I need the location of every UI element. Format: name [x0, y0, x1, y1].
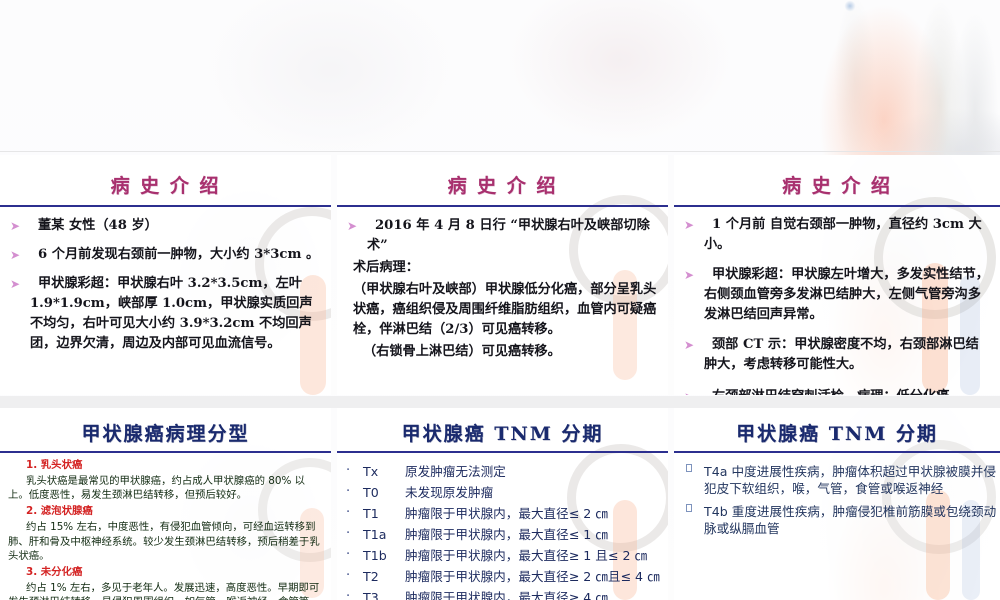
tnm-desc: 肿瘤限于甲状腺内，最大直径≥ 1 且≤ 2 ㎝ — [405, 548, 647, 563]
dot-bullet-icon: · — [346, 483, 350, 501]
panel-tnm-t1-t3[interactable]: 甲状腺癌 TNM 分期 · Tx 原发肿瘤无法测定 · T0 — [337, 408, 668, 600]
arrow-bullet-icon: ➤ — [684, 266, 694, 284]
tnm-code: T3 — [363, 589, 401, 600]
tnm-desc: 肿瘤限于甲状腺内，最大直径≤ 1 ㎝ — [405, 527, 608, 542]
panel-title: 病 史 介 绍 — [674, 155, 1000, 198]
pathology-text: 乳头状癌是最常见的甲状腺癌，约占成人甲状腺癌的 80% 以上。低度恶性，易发生颈… — [8, 474, 325, 504]
pathology-text: 约占 1% 左右，多见于老年人。发展迅速，高度恶性。早期即可发生颈淋巴结转移，易… — [8, 581, 325, 600]
panel-row-top: 病 史 介 绍 ➤ 董某 女性（48 岁） ➤ 6 个月前发现右颈前一肿物，大小… — [0, 155, 1000, 395]
tnm-code: T2 — [363, 568, 401, 585]
panel-title: 病 史 介 绍 — [0, 155, 331, 198]
panel-history-3[interactable]: 病 史 介 绍 ➤ 1 个月前 自觉右颈部一肿物，直径约 3cm 大小。 ➤ 甲… — [674, 155, 1000, 395]
pathology-heading: 3. 未分化癌 — [8, 565, 325, 581]
tnm-desc: 肿瘤限于甲状腺内，最大直径≥ 2 ㎝且≤ 4 ㎝ — [405, 569, 660, 584]
panel-pathology-types[interactable]: 甲状腺癌病理分型 1. 乳头状癌 乳头状癌是最常见的甲状腺癌，约占成人甲状腺癌的… — [0, 408, 331, 600]
panel-title: 甲状腺癌病理分型 — [0, 408, 331, 446]
list-item-text: 2016 年 4 月 8 日行 “甲状腺右叶及峡部切除术” — [367, 218, 650, 253]
dot-bullet-icon: · — [346, 462, 350, 480]
pathology-text: 约占 15% 左右，中度恶性，有侵犯血管倾向，可经血运转移到肺、肝和骨及中枢神经… — [8, 520, 325, 564]
panel-title: 病 史 介 绍 — [337, 155, 668, 198]
list-item-text: 1 个月前 自觉右颈部一肿物，直径约 3cm 大小。 — [704, 217, 982, 252]
panels-grid: 病 史 介 绍 ➤ 董某 女性（48 岁） ➤ 6 个月前发现右颈前一肿物，大小… — [0, 0, 1000, 600]
dot-bullet-icon: · — [346, 525, 350, 543]
list-item-text: （右锁骨上淋巴结）可见癌转移。 — [363, 344, 561, 359]
tnm-list: T4a 中度进展性疾病，肿瘤体积超过甲状腺被膜并侵犯皮下软组织，喉，气管，食管或… — [674, 463, 1000, 538]
list-item: ➤ 颈部 CT 示：甲状腺密度不均，右颈部淋巴结肿大，考虑转移可能性大。 — [682, 335, 991, 375]
list-item-text: （甲状腺右叶及峡部）甲状腺低分化癌，部分呈乳头状癌，癌组织侵及周围纤维脂肪组织，… — [353, 282, 656, 337]
bullet-list: ➤ 董某 女性（48 岁） ➤ 6 个月前发现右颈前一肿物，大小约 3*3cm … — [8, 216, 322, 354]
list-item: · T0 未发现原发肿瘤 — [337, 484, 668, 501]
panel-title: 甲状腺癌 TNM 分期 — [337, 408, 668, 446]
list-item: T4a 中度进展性疾病，肿瘤体积超过甲状腺被膜并侵犯皮下软组织，喉，气管，食管或… — [674, 463, 1000, 498]
list-item: · T2 肿瘤限于甲状腺内，最大直径≥ 2 ㎝且≤ 4 ㎝ — [337, 568, 668, 585]
arrow-bullet-icon: ➤ — [10, 246, 20, 264]
list-item: ➤ 甲状腺彩超：甲状腺左叶增大，多发实性结节，右侧颈血管旁多发淋巴结肿大，左侧气… — [682, 265, 991, 325]
dot-bullet-icon: · — [346, 546, 350, 564]
panel-title: 甲状腺癌 TNM 分期 — [674, 408, 1000, 446]
list-item: · T1a 肿瘤限于甲状腺内，最大直径≤ 1 ㎝ — [337, 526, 668, 543]
pathology-heading: 1. 乳头状癌 — [8, 458, 325, 474]
panel-row-bottom: 甲状腺癌病理分型 1. 乳头状癌 乳头状癌是最常见的甲状腺癌，约占成人甲状腺癌的… — [0, 408, 1000, 600]
list-item-text: 董某 女性（48 岁） — [38, 218, 158, 233]
tnm-code: T1 — [363, 505, 401, 522]
tnm-code: T4a — [704, 464, 727, 479]
list-item-text: 6 个月前发现右颈前一肿物，大小约 3*3cm 。 — [38, 247, 319, 262]
tnm-code: Tx — [363, 463, 401, 480]
list-item: · T3 肿瘤限于甲状腺内，最大直径≥ 4 ㎝ — [337, 589, 668, 600]
tnm-desc: 重度进展性疾病，肿瘤侵犯椎前筋膜或包绕颈动脉或纵膈血管 — [704, 504, 996, 536]
list-item-text: 甲状腺彩超：甲状腺左叶增大，多发实性结节，右侧颈血管旁多发淋巴结肿大，左侧气管旁… — [704, 267, 989, 322]
list-item: （右锁骨上淋巴结）可见癌转移。 — [345, 342, 659, 362]
bullet-list: ➤ 1 个月前 自觉右颈部一肿物，直径约 3cm 大小。 ➤ 甲状腺彩超：甲状腺… — [682, 215, 991, 395]
list-item: · T1b 肿瘤限于甲状腺内，最大直径≥ 1 且≤ 2 ㎝ — [337, 547, 668, 564]
list-item: ➤ 2016 年 4 月 8 日行 “甲状腺右叶及峡部切除术” — [345, 216, 659, 256]
tnm-code: T0 — [363, 484, 401, 501]
list-item-text: 甲状腺彩超：甲状腺右叶 3.2*3.5cm，左叶 1.9*1.9cm，峡部厚 1… — [30, 276, 313, 351]
tnm-code: T1b — [363, 547, 401, 564]
list-item-text: 颈部 CT 示：甲状腺密度不均，右颈部淋巴结肿大，考虑转移可能性大。 — [704, 337, 979, 372]
tnm-desc: 肿瘤限于甲状腺内，最大直径≥ 4 ㎝ — [405, 590, 608, 600]
dot-bullet-icon: · — [346, 567, 350, 585]
arrow-bullet-icon: ➤ — [684, 388, 694, 395]
dot-bullet-icon: · — [346, 504, 350, 522]
arrow-bullet-icon: ➤ — [10, 275, 20, 293]
list-item: ➤ 甲状腺彩超：甲状腺右叶 3.2*3.5cm，左叶 1.9*1.9cm，峡部厚… — [8, 274, 322, 354]
tnm-code: T1a — [363, 526, 401, 543]
list-item: T4b 重度进展性疾病，肿瘤侵犯椎前筋膜或包绕颈动脉或纵膈血管 — [674, 503, 1000, 538]
bullet-list: ➤ 2016 年 4 月 8 日行 “甲状腺右叶及峡部切除术” 术后病理： （甲… — [345, 216, 659, 362]
list-item: ➤ 右颈部淋巴结穿刺活检，病理：低分化癌 — [682, 387, 991, 395]
tnm-desc: 未发现原发肿瘤 — [405, 485, 493, 500]
panel-history-1[interactable]: 病 史 介 绍 ➤ 董某 女性（48 岁） ➤ 6 个月前发现右颈前一肿物，大小… — [0, 155, 331, 395]
tnm-list: · Tx 原发肿瘤无法测定 · T0 未发现原发肿瘤 · — [337, 463, 668, 600]
tnm-desc: 原发肿瘤无法测定 — [405, 464, 506, 479]
panel-history-2[interactable]: 病 史 介 绍 ➤ 2016 年 4 月 8 日行 “甲状腺右叶及峡部切除术” … — [337, 155, 668, 395]
list-item: · Tx 原发肿瘤无法测定 — [337, 463, 668, 480]
list-item: （甲状腺右叶及峡部）甲状腺低分化癌，部分呈乳头状癌，癌组织侵及周围纤维脂肪组织，… — [345, 280, 659, 340]
list-item: ➤ 6 个月前发现右颈前一肿物，大小约 3*3cm 。 — [8, 245, 322, 265]
list-item: · T1 肿瘤限于甲状腺内，最大直径≤ 2 ㎝ — [337, 505, 668, 522]
list-item: 术后病理： — [345, 258, 659, 278]
arrow-bullet-icon: ➤ — [347, 217, 357, 235]
box-bullet-icon — [686, 464, 692, 472]
tnm-code: T4b — [704, 504, 728, 519]
panel-tnm-t4[interactable]: 甲状腺癌 TNM 分期 T4a 中度进展性疾病，肿瘤体积超过甲状腺被膜并侵犯皮下… — [674, 408, 1000, 600]
dot-bullet-icon: · — [346, 588, 350, 600]
arrow-bullet-icon: ➤ — [10, 217, 20, 235]
list-item: ➤ 董某 女性（48 岁） — [8, 216, 322, 236]
box-bullet-icon — [686, 504, 692, 512]
list-item: ➤ 1 个月前 自觉右颈部一肿物，直径约 3cm 大小。 — [682, 215, 991, 255]
slide-deck-screenshot: 病 史 介 绍 ➤ 董某 女性（48 岁） ➤ 6 个月前发现右颈前一肿物，大小… — [0, 0, 1000, 600]
list-item-text: 右颈部淋巴结穿刺活检，病理：低分化癌 — [712, 389, 949, 395]
arrow-bullet-icon: ➤ — [684, 336, 694, 354]
arrow-bullet-icon: ➤ — [684, 216, 694, 234]
pathology-heading: 2. 滤泡状腺癌 — [8, 504, 325, 520]
tnm-desc: 中度进展性疾病，肿瘤体积超过甲状腺被膜并侵犯皮下软组织，喉，气管，食管或喉返神经 — [704, 464, 996, 496]
list-item-text: 术后病理： — [353, 260, 419, 275]
tnm-desc: 肿瘤限于甲状腺内，最大直径≤ 2 ㎝ — [405, 506, 608, 521]
